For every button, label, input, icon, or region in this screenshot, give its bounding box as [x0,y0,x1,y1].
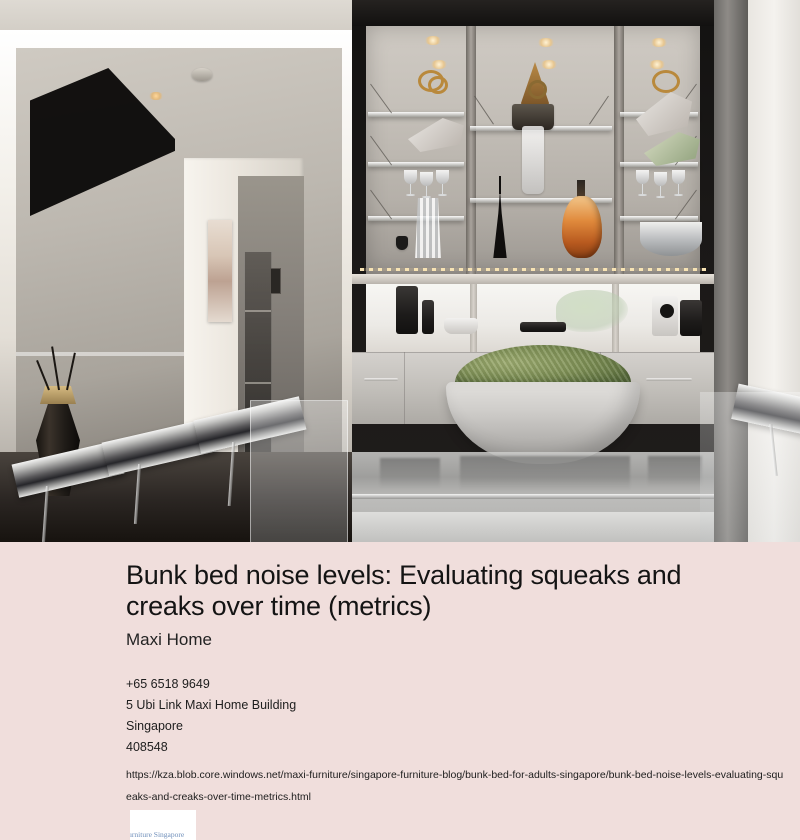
gold-ornament [428,76,448,94]
acrylic-chair [250,400,348,542]
cabinet-spotlight-icon [648,60,666,69]
cabinet-glass-shelf [368,162,464,167]
street-address: 5 Ubi Link Maxi Home Building [126,695,786,716]
silver-bowl [640,222,702,256]
counter-top-band [352,274,714,284]
cabinet-spotlight-icon [540,60,558,69]
contact-block: +65 6518 9649 5 Ubi Link Maxi Home Build… [126,674,786,808]
cabinet-top-band [352,0,714,26]
postal-code: 408548 [126,737,786,758]
wine-glass [436,170,449,198]
crystal-decanter [522,126,544,194]
cognac-bottle [562,196,602,258]
gold-ornament [652,70,680,93]
wall-artwork [208,220,232,322]
recessed-downlight-icon [148,92,164,100]
hero-image [0,0,800,542]
kettle [680,300,702,336]
table-reflection [460,456,630,490]
cabinet-glass-shelf [620,216,698,221]
glass-panel [700,392,800,542]
cabinet-spotlight-icon [650,38,668,47]
coffee-machine [396,286,418,334]
page-title: Bunk bed noise levels: Evaluating squeak… [126,560,726,622]
wine-glass [636,170,649,198]
cabinet-spotlight-icon [537,38,555,47]
small-dark-object [396,236,408,250]
wainscot-line [16,352,186,356]
wine-glass [404,170,417,198]
table-reflection [380,458,440,488]
page-root: Bunk bed noise levels: Evaluating squeak… [0,0,800,840]
country: Singapore [126,716,786,737]
brand-name: Maxi Home [126,630,212,650]
cabinet-spotlight-icon [424,36,442,45]
wine-glass [654,172,667,200]
drawer-handle [646,378,692,381]
logo-text: Furniture Singapore [130,830,196,839]
small-picture-frame [270,268,281,294]
kitchen-appliance [422,300,434,334]
cabinet-glass-shelf [368,216,464,221]
cabinet-spotlight-icon [430,60,448,69]
gold-ornament [528,80,547,99]
logo[interactable]: Furniture Singapore [130,810,196,840]
counter-tray [520,322,566,332]
table-reflection [648,456,702,486]
machine-dial [660,304,674,318]
cabinet-glass-shelf [368,112,464,117]
article-info-panel: Bunk bed noise levels: Evaluating squeak… [0,542,800,840]
phone-number[interactable]: +65 6518 9649 [126,674,786,695]
cabinet-seam [404,352,405,424]
drawer-handle [364,378,398,381]
wine-glass [420,172,433,200]
cabinet-mullion [614,26,624,274]
article-url[interactable]: https://kza.blob.core.windows.net/maxi-f… [126,764,784,808]
ceramic-bowl [444,318,478,334]
interior-photo [0,0,800,542]
cabinet-mullion [466,26,476,274]
wine-glass [672,170,685,198]
smoke-alarm-icon [192,68,212,81]
ceiling [0,0,352,34]
crystal-vase [414,198,442,258]
led-light-strip [360,268,706,271]
